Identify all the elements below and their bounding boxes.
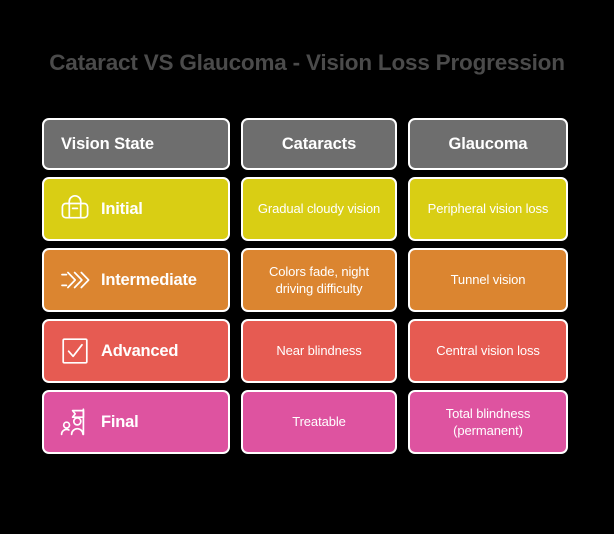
header-cell-cataracts: Cataracts: [241, 118, 397, 170]
state-cell-initial: Initial: [42, 177, 230, 241]
table-row: Intermediate Colors fade, night driving …: [42, 248, 568, 312]
cell-text: Total blindness (permanent): [418, 405, 558, 439]
comparison-table: Vision State Cataracts Glaucoma: [42, 118, 568, 454]
infographic-canvas: Cataract VS Glaucoma - Vision Loss Progr…: [0, 0, 614, 534]
cell-text: Near blindness: [276, 342, 361, 359]
cataracts-cell-intermediate: Colors fade, night driving difficulty: [241, 248, 397, 312]
briefcase-bag-icon: [58, 192, 92, 226]
table-row: Final Treatable Total blindness (permane…: [42, 390, 568, 454]
cataracts-cell-initial: Gradual cloudy vision: [241, 177, 397, 241]
glaucoma-cell-intermediate: Tunnel vision: [408, 248, 568, 312]
page-title: Cataract VS Glaucoma - Vision Loss Progr…: [0, 50, 614, 76]
fast-forward-chevrons-icon: [58, 263, 92, 297]
state-label: Initial: [101, 200, 143, 219]
cell-text: Peripheral vision loss: [428, 200, 549, 217]
header-label-glaucoma: Glaucoma: [449, 135, 528, 154]
cell-text: Colors fade, night driving difficulty: [251, 263, 387, 297]
header-cell-vision-state: Vision State: [42, 118, 230, 170]
state-label: Final: [101, 413, 139, 432]
header-label-vision-state: Vision State: [61, 135, 154, 154]
checkbox-check-icon: [58, 334, 92, 368]
state-cell-advanced: Advanced: [42, 319, 230, 383]
state-cell-intermediate: Intermediate: [42, 248, 230, 312]
header-label-cataracts: Cataracts: [282, 135, 356, 154]
table-row: Initial Gradual cloudy vision Peripheral…: [42, 177, 568, 241]
glaucoma-cell-final: Total blindness (permanent): [408, 390, 568, 454]
table-row: Advanced Near blindness Central vision l…: [42, 319, 568, 383]
glaucoma-cell-advanced: Central vision loss: [408, 319, 568, 383]
cell-text: Tunnel vision: [451, 271, 526, 288]
state-label: Intermediate: [101, 271, 197, 290]
glaucoma-cell-initial: Peripheral vision loss: [408, 177, 568, 241]
goal-flag-people-icon: [58, 405, 92, 439]
header-cell-glaucoma: Glaucoma: [408, 118, 568, 170]
cataracts-cell-final: Treatable: [241, 390, 397, 454]
cell-text: Gradual cloudy vision: [258, 200, 380, 217]
table-header-row: Vision State Cataracts Glaucoma: [42, 118, 568, 170]
cell-text: Treatable: [292, 413, 346, 430]
cataracts-cell-advanced: Near blindness: [241, 319, 397, 383]
state-cell-final: Final: [42, 390, 230, 454]
cell-text: Central vision loss: [436, 342, 540, 359]
state-label: Advanced: [101, 342, 178, 361]
